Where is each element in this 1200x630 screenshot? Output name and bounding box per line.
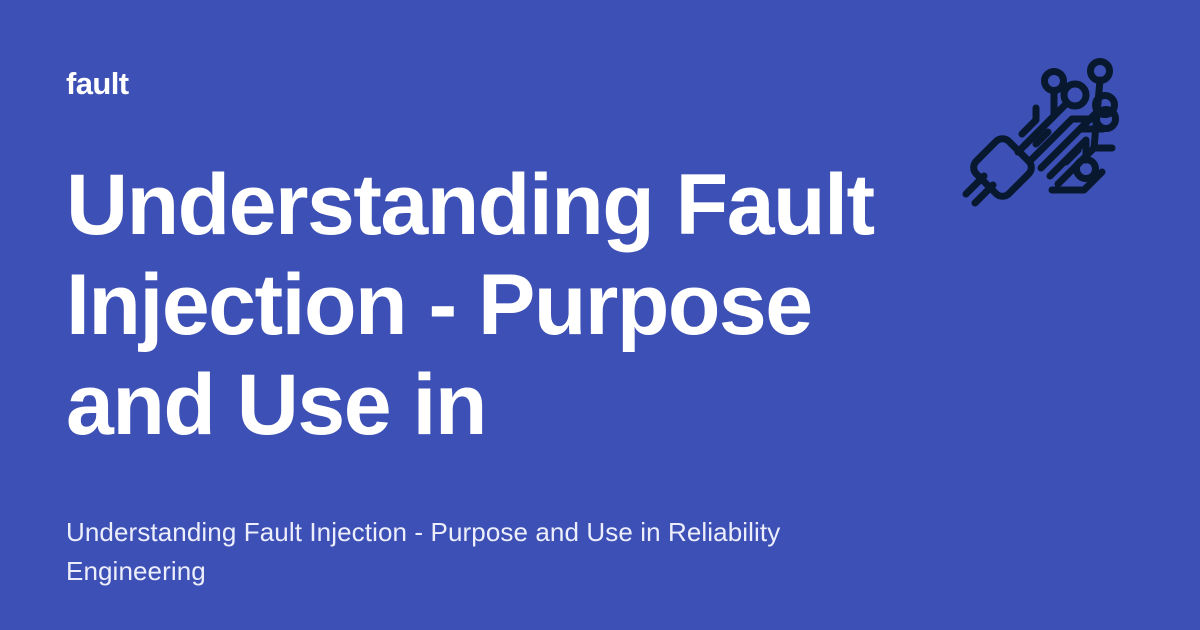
page-description: Understanding Fault Injection - Purpose …	[66, 513, 896, 591]
brand-logo: fault	[66, 68, 128, 99]
page-title: Understanding Fault Injection - Purpose …	[66, 155, 946, 455]
og-share-card: fault	[0, 0, 1200, 630]
circuit-cable-icon	[962, 48, 1124, 210]
